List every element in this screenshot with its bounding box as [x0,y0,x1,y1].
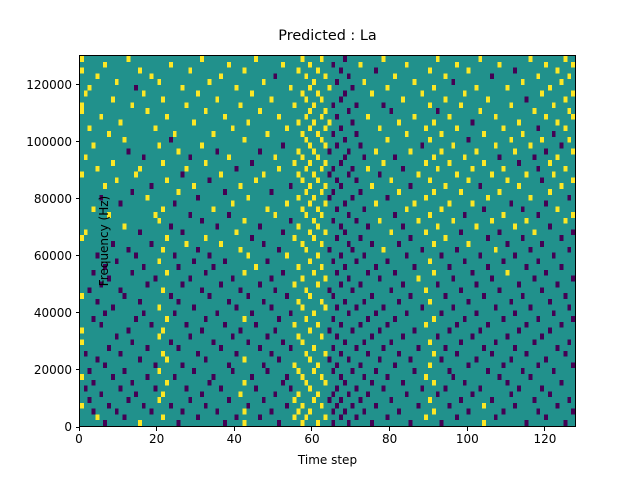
x-tick-label: 20 [149,433,164,445]
x-axis-label: Time step [79,453,576,467]
x-tick-label: 80 [382,433,397,445]
y-tick-mark [76,312,80,313]
x-tick-mark [79,427,80,431]
x-tick-mark [156,427,157,431]
x-tick-mark [234,427,235,431]
y-tick-label: 80000 [34,193,72,205]
x-tick-mark [389,427,390,431]
x-tick-label: 60 [304,433,319,445]
y-tick-mark [76,141,80,142]
y-tick-label: 60000 [34,250,72,262]
y-tick-label: 20000 [34,364,72,376]
y-tick-label: 40000 [34,307,72,319]
x-tick-label: 0 [75,433,83,445]
y-tick-mark [76,198,80,199]
x-tick-label: 100 [456,433,479,445]
x-tick-label: 120 [533,433,556,445]
heatmap-image [80,56,575,426]
x-tick-label: 40 [227,433,242,445]
matplotlib-figure: Predicted : La 0200004000060000800001000… [0,0,640,480]
heatmap-plot-area [79,55,576,427]
y-tick-mark [76,255,80,256]
y-tick-label: 0 [64,421,72,433]
page-title: Predicted : La [79,26,576,46]
x-tick-mark [467,427,468,431]
x-tick-mark [311,427,312,431]
y-tick-label: 100000 [26,136,72,148]
y-tick-mark [76,84,80,85]
y-tick-label: 120000 [26,79,72,91]
y-axis-label: Frequency (Hz) [97,55,111,427]
y-tick-mark [76,369,80,370]
x-tick-mark [544,427,545,431]
